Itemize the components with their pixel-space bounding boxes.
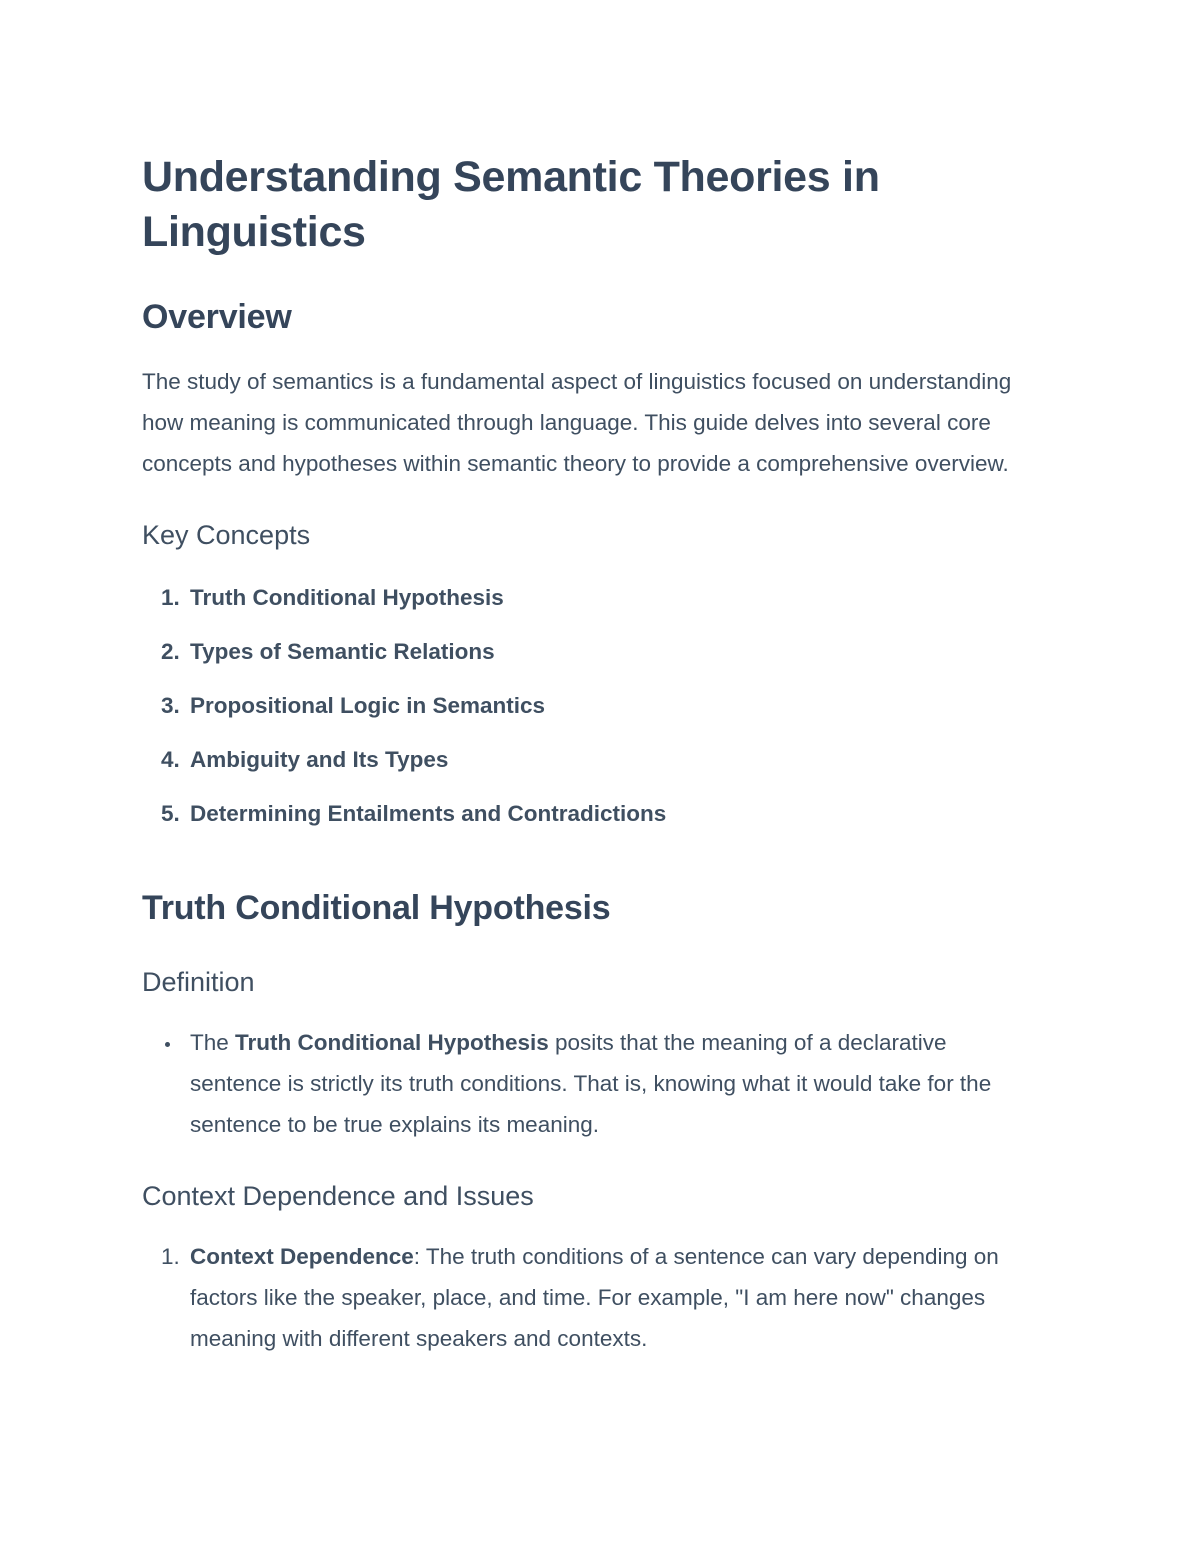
list-item: Truth Conditional Hypothesis (186, 577, 1035, 618)
list-item: Determining Entailments and Contradictio… (186, 793, 1035, 834)
heading-key-concepts: Key Concepts (142, 518, 1035, 553)
list-item: Types of Semantic Relations (186, 631, 1035, 672)
page-title: Understanding Semantic Theories in Lingu… (142, 150, 1022, 260)
issues-list: Context Dependence: The truth conditions… (142, 1236, 1035, 1359)
key-concepts-list: Truth Conditional Hypothesis Types of Se… (142, 577, 1035, 834)
list-item: Context Dependence: The truth conditions… (186, 1236, 1035, 1359)
heading-truth-conditional-hypothesis: Truth Conditional Hypothesis (142, 886, 1035, 930)
list-item: The Truth Conditional Hypothesis posits … (182, 1022, 1035, 1145)
list-item: Propositional Logic in Semantics (186, 685, 1035, 726)
document-page: Understanding Semantic Theories in Lingu… (0, 0, 1200, 1553)
heading-context-dependence-and-issues: Context Dependence and Issues (142, 1179, 1035, 1214)
overview-paragraph: The study of semantics is a fundamental … (142, 361, 1035, 484)
definition-lead: The (190, 1030, 235, 1055)
issue-term: Context Dependence (190, 1244, 414, 1269)
heading-definition: Definition (142, 965, 1035, 1000)
list-item: Ambiguity and Its Types (186, 739, 1035, 780)
definition-term: Truth Conditional Hypothesis (235, 1030, 549, 1055)
heading-overview: Overview (142, 295, 1035, 339)
definition-list: The Truth Conditional Hypothesis posits … (142, 1022, 1035, 1145)
